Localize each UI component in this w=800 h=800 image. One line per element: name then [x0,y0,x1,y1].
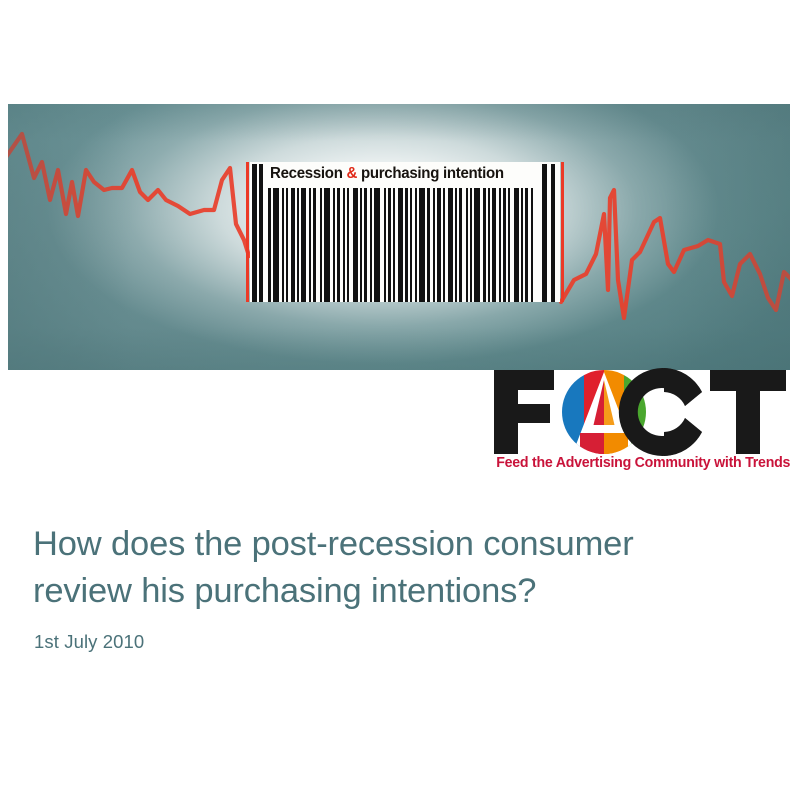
barcode-guard-left-icon [246,162,249,302]
barcode-bar [455,188,457,302]
barcode-bar [347,188,349,302]
barcode-bar [470,188,472,302]
barcode-bar [297,188,299,302]
barcode-label-text: Recession & purchasing intention [270,165,504,183]
barcode-bar [374,188,380,302]
barcode-bar [466,188,468,302]
barcode-bar [483,188,486,302]
barcode-bar [443,188,445,302]
barcode-bar [410,188,412,302]
title-block: How does the post-recession consumer rev… [33,521,763,615]
barcode-bar [398,188,403,302]
barcode-label-part-2: purchasing intention [357,165,504,182]
barcode-bar [324,188,330,302]
barcode-bar [268,188,271,302]
barcode-bar [488,188,490,302]
barcode-bar [370,188,372,302]
barcode-bar [448,188,453,302]
fact-letter-t-icon [710,370,786,454]
barcode-bar [333,188,335,302]
barcode-bar [388,188,391,302]
page-title: How does the post-recession consumer rev… [33,521,763,615]
barcode-bar [419,188,425,302]
barcode-bar [364,188,367,302]
barcode-bar [508,188,510,302]
barcode-bar [343,188,345,302]
barcode-bar [286,188,288,302]
barcode-bar [405,188,408,302]
barcode-bar [474,188,480,302]
barcode-bar [313,188,316,302]
barcode-label-ampersand: & [346,165,357,182]
barcode-bar [301,188,306,302]
barcode-guard-right-icon [561,162,564,302]
barcode-bar [531,188,533,302]
barcode-bar [514,188,519,302]
barcode-bar [320,188,322,302]
barcode-bar [433,188,435,302]
fact-letter-f-icon [494,370,554,454]
fact-logo: Feed the Advertising Community with Tren… [488,366,792,478]
barcode-bar [427,188,430,302]
hero-banner: Recession & purchasing intention [8,104,790,370]
barcode-bar [360,188,362,302]
barcode-bar [282,188,284,302]
barcode-bar [384,188,386,302]
barcode-bar [415,188,417,302]
barcode-bar [309,188,311,302]
barcode-bar [393,188,395,302]
barcode-bar [492,188,496,302]
barcode-label-part-1: Recession [270,165,346,182]
barcode-bar [503,188,506,302]
trend-line-right [561,190,790,318]
trend-line-left [8,134,249,256]
barcode-graphic: Recession & purchasing intention [246,162,564,302]
barcode-bar [337,188,340,302]
barcode-bar [273,188,279,302]
deck-date: 1st July 2010 [34,631,144,653]
barcode-bar [291,188,295,302]
fact-wordmark [488,366,792,458]
barcode-bar [353,188,358,302]
barcode-bar [437,188,441,302]
barcode-bar [525,188,528,302]
barcode-label: Recession & purchasing intention [250,162,560,188]
barcode-bar [521,188,523,302]
barcode-bar [499,188,501,302]
barcode-bar [459,188,462,302]
fact-tagline: Feed the Advertising Community with Tren… [496,455,790,471]
